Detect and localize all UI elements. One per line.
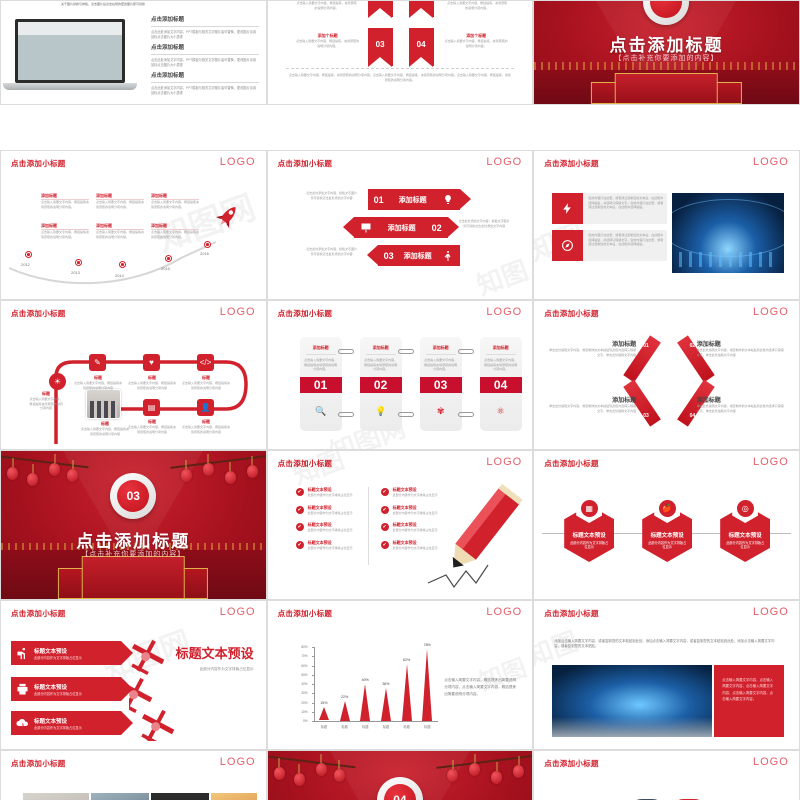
node-label: 标题 点击输入简要文字内容，概括提炼言简意赅的说明分项内容 — [73, 375, 123, 390]
row-title: 标题文本预设 — [34, 647, 82, 655]
slide-thumb-bar-chart[interactable]: 点击添加小标题 LOGO 知图 0%10%20%30%40%50%60%70%8… — [267, 600, 534, 750]
node-body: 点击输入简要文字内容，概括提炼言简意赅的说明分项内容 — [127, 425, 177, 434]
logo-text: LOGO — [486, 456, 522, 468]
slide-header: 点击添加小标题 — [544, 308, 599, 319]
card-title: 添加标题 — [480, 345, 522, 351]
document-icon: ▤ — [143, 399, 160, 416]
y-axis-tick: 50% — [294, 673, 308, 677]
laptop-mockup-image — [15, 19, 125, 90]
item-body: 此部分内容作为文字排版占位显示 — [308, 493, 368, 498]
arrow-row-03: 03 添加标题 — [378, 245, 460, 266]
big-title-block: 标题文本预设 此部分内容作为文字排版占位显示 — [158, 643, 254, 672]
y-axis-tick: 10% — [294, 710, 308, 714]
quadrant-text: 添加标题 单击此处编辑文字内容，或复制你的文本粘贴到此框内选择只保留文字，单击此… — [548, 339, 636, 357]
note-title: 添加标题 — [96, 193, 144, 200]
timeline-year: 2013 — [71, 270, 80, 275]
info-card[interactable]: 添加标题 点击输入简要文字内容，概括提炼言简意赅的说明分项内容。 03 ✾ — [420, 337, 462, 431]
note-body: 点击输入简要文字内容，概括提炼言简意赅的说明分项内容。 — [41, 200, 89, 209]
flag-side-item: 添加个标题 点击输入简要文字内容，概括提炼，言简意赅的说明分项内容。 — [296, 33, 360, 48]
timeline-note: 添加标题 点击输入简要文字内容，概括提炼言简意赅的说明分项内容。 — [151, 193, 199, 209]
y-axis — [314, 647, 315, 721]
info-card[interactable]: 添加标题 点击输入简要文字内容，概括提炼言简意赅的说明分项内容。 02 💡 — [360, 337, 402, 431]
logo-text: LOGO — [753, 456, 789, 468]
timeline-year: 2014 — [115, 273, 124, 278]
quadrant-number: 04 — [690, 413, 696, 419]
slide-header: 点击添加小标题 — [278, 458, 333, 469]
check-item: ✔ 标题文本预设 此部分内容作为文字排版占位显示 — [296, 487, 368, 498]
pencil-illustration — [422, 479, 532, 594]
presenter-icon — [15, 646, 30, 661]
bulb-icon: 💡 — [360, 406, 402, 417]
hex-title: 标题文本预设 — [642, 531, 692, 539]
quadrant-body: 单击此处编辑文字内容，或复制你的文本粘贴到此框内选择只保留文字，单击此处编辑文字… — [548, 404, 636, 413]
card-title: 添加标题 — [360, 345, 402, 351]
x-axis-tick: 标题 — [313, 724, 335, 729]
info-card[interactable]: 添加标题 点击输入简要文字内容，概括提炼言简意赅的说明分项内容。 01 🔍 — [300, 337, 342, 431]
arrow-note: 点击此处添加文字内容，模板文字图片皆可替换点击此处添加文字内容 — [458, 219, 510, 228]
flag-note: 点击输入简要文字内容，概括提炼，言简意赅的说明分项内容。 — [446, 1, 508, 10]
chart-bar — [402, 664, 412, 721]
timeline-dot — [119, 261, 126, 268]
quadrant-body: 单击此处编辑文字内容，或复制你的文本粘贴到此框内选择只保留文字，单击此处编辑文字… — [697, 348, 785, 357]
info-card[interactable]: 添加标题 点击输入简要文字内容，概括提炼言简意赅的说明分项内容。 04 ⚛ — [480, 337, 522, 431]
arrow-note: 点击此处添加文字内容，模板文字图片皆可替换点击此处添加文字内容 — [306, 247, 358, 256]
quadrant-text: 添加标题 单击此处编辑文字内容，或复制你的文本粘贴到此框内选择只保留文字，单击此… — [548, 395, 636, 413]
slide-header: 点击添加小标题 — [11, 158, 66, 169]
hex-title: 标题文本预设 — [720, 531, 770, 539]
arrow-label: 添加标题 — [388, 223, 416, 233]
slide-thumb-section-03[interactable]: 03 点击添加标题 【点击补充你要添加的内容】 — [0, 450, 267, 600]
person-flag-icon — [442, 250, 454, 262]
block-title: 点击添加标题 — [151, 15, 259, 23]
item-body: 此部分内容作为文字排版占位显示 — [308, 511, 368, 516]
check-item: ✔ 标题文本预设 此部分内容作为文字排版占位显示 — [296, 505, 368, 516]
bar-value-label: 22% — [334, 695, 356, 699]
chart-bar — [360, 684, 370, 721]
search-icon: 🔍 — [300, 406, 342, 417]
arrow-row-01: 01 添加标题 — [368, 189, 460, 210]
card-title: 添加标题 — [300, 345, 342, 351]
item-body: 此部分内容作为文字排版占位显示 — [308, 528, 368, 533]
slide-header: 点击添加小标题 — [11, 608, 66, 619]
timeline-note: 添加标题 点击输入简要文字内容，概括提炼言简意赅的说明分项内容。 — [96, 193, 144, 209]
y-axis-tick: 40% — [294, 682, 308, 686]
x-axis-tick: 标题 — [416, 724, 438, 729]
slide-thumb-rocket-timeline[interactable]: 点击添加小标题 LOGO 知图网 添加标题 点击输入简要文字内容，概括提炼言简意… — [0, 150, 267, 300]
lantern-decor-right — [422, 751, 532, 785]
compass-icon — [552, 230, 583, 261]
node-label: 标题 点击输入简要文字内容，概括提炼言简意赅的说明分项内容 — [181, 375, 231, 390]
team-icon: 👤 — [197, 399, 214, 416]
lantern-decor-right — [156, 451, 266, 485]
cloud-download-icon — [15, 716, 30, 731]
timeline-dot — [25, 251, 32, 258]
node-label: 标题 点击输入简要文字内容，概括提炼言简意赅的说明分项内容 — [81, 421, 129, 436]
logo-text: LOGO — [486, 606, 522, 618]
slide-thumb-hexagons[interactable]: 点击添加小标题 LOGO 标题文本预设 此部分内容作为文字排版占位显示 ▦ 标题… — [533, 450, 800, 600]
presentation-icon — [360, 222, 372, 234]
chart-bar — [340, 701, 350, 721]
panel-text: 点击输入简要文字内容，点击输入简要文字内容，点击输入简要文字内容，点击输入简要文… — [722, 677, 776, 703]
y-axis-tick: 20% — [294, 701, 308, 705]
bar-value-label: 36% — [375, 682, 397, 686]
lightning-icon — [552, 193, 583, 224]
note-body: 点击输入简要文字内容，概括提炼言简意赅的说明分项内容。 — [151, 200, 199, 209]
x-shape: 01 02 03 04 — [639, 339, 699, 423]
logo-text: LOGO — [753, 756, 789, 768]
note-title: 添加标题 — [151, 193, 199, 200]
card-body: 点击输入简要文字内容，概括提炼言简意赅的说明分项内容。 — [300, 358, 342, 372]
node-label: 标题 点击输入简要文字内容，概括提炼言简意赅的说明分项内容 — [29, 391, 63, 411]
card-number: 04 — [480, 377, 522, 393]
chart-bar — [319, 707, 329, 720]
plane-row-3: 标题文本预设 此部分内容作为文字排版占位显示 — [11, 711, 121, 735]
slide-thumb-x-diagram[interactable]: 点击添加小标题 LOGO 01 02 03 04 添加标题 单击此处编辑文字内容… — [533, 300, 800, 450]
bar-value-label: 15% — [313, 701, 335, 705]
node-body: 点击输入简要文字内容，概括提炼言简意赅的说明分项内容 — [73, 381, 123, 390]
arrow-row-02: 添加标题 02 — [354, 217, 448, 238]
row-title: 标题文本预设 — [34, 683, 82, 691]
card-number: 02 — [360, 377, 402, 393]
timeline-note: 添加标题 点击输入简要文字内容，概括提炼言简意赅的说明分项内容。 — [41, 193, 89, 209]
card-body: 点击输入简要文字内容，概括提炼言简意赅的说明分项内容。 — [480, 358, 522, 372]
x-axis-tick: 标题 — [354, 724, 376, 729]
code-icon: </> — [197, 354, 214, 371]
y-axis-tick: 0% — [294, 719, 308, 723]
node-label: 标题 点击输入简要文字内容，概括提炼言简意赅的说明分项内容 — [127, 375, 177, 390]
note-title: 添加标题 — [41, 193, 89, 200]
check-item: ✔ 标题文本预设 此部分内容作为文字排版占位显示 — [296, 522, 368, 533]
lantern-decor-left — [268, 751, 368, 785]
note-title: 添加标题 — [96, 223, 144, 230]
logo-text: LOGO — [753, 306, 789, 318]
slide-thumb-photo-mosaic[interactable]: 点击添加小标题 LOGO 添加点击输入标题 此部分内容作为文字排版占位 点击此处… — [0, 750, 267, 800]
row-body: 此部分内容作为文字排版占位显示 — [34, 691, 82, 696]
card-title: 添加标题 — [420, 345, 462, 351]
block-body: 点击此处添加文字内容，PPT模板与相关文字图片皆可替换，更改图片请用鼠标点击图片… — [151, 86, 259, 96]
connector — [398, 412, 414, 417]
timeline-year: 2015 — [161, 266, 170, 271]
connector — [338, 349, 354, 354]
arrow-note: 点击此处添加文字内容，模板文字图片皆可替换点击此处添加文字内容 — [306, 191, 358, 200]
slide-thumb-banner-flags[interactable]: 点击输入简要文字内容，概括提炼，言简意赅的说明分项内容。 点击输入简要文字内容，… — [267, 0, 534, 105]
footer-note: 点击输入简要文字内容，概括提炼，言简意赅的说明分项内容。点击输入简要文字内容，概… — [288, 73, 513, 82]
slide-header: 点击添加小标题 — [544, 158, 599, 169]
check-item: ✔ 标题文本预设 此部分内容作为文字排版占位显示 — [296, 540, 368, 551]
slide-thumb-hero-photo[interactable]: 点击添加小标题 LOGO 知图 添加点击输入简要文字内容，或者复制您的文本粘贴到… — [533, 600, 800, 750]
card-number: 01 — [300, 377, 342, 393]
meeting-photo — [91, 793, 149, 800]
quadrant-title: 添加标题 — [548, 395, 636, 404]
flag-badge-03: 03 — [368, 28, 393, 66]
slide-top-note: 关于图片替换与排版，点击图片后点击右侧的更改图片即可替换 — [61, 2, 145, 7]
logo-text: LOGO — [220, 156, 256, 168]
plane-row-2: 标题文本预设 此部分内容作为文字排版占位显示 — [11, 677, 121, 701]
big-title: 标题文本预设 — [158, 643, 254, 662]
note-body: 点击输入简要文字内容，概括提炼言简意赅的说明分项内容。 — [96, 200, 144, 209]
text-block: 点击添加标题 点击此处添加文字内容，PPT模板与相关文字图片皆可替换，更改图片请… — [151, 71, 259, 96]
arrow-number: 03 — [384, 251, 394, 261]
item-body: 您的内容打在这里，或者通过复制您的文本后，在此框中选择粘贴，并选择只保留文字。您… — [588, 233, 664, 247]
hex-title: 标题文本预设 — [564, 531, 614, 539]
timeline-year: 2016 — [200, 251, 209, 256]
sunrise-photo — [211, 793, 257, 800]
dark-caption-tile: 添加点击输入标题 此部分内容作为文字排版占位 — [151, 793, 209, 800]
hex-body: 此部分内容作为文字排版占位显示 — [720, 539, 770, 552]
hex-body: 此部分内容作为文字排版占位显示 — [642, 539, 692, 552]
y-axis-tick: 60% — [294, 664, 308, 668]
slide-header: 点击添加小标题 — [278, 608, 333, 619]
connector — [458, 412, 474, 417]
logo-text: LOGO — [220, 606, 256, 618]
lead-text: 添加点击输入简要文字内容，或者复制您的文本粘贴到此处。添加点击输入简要文字内容，… — [554, 639, 781, 649]
y-axis-tick: 70% — [294, 654, 308, 658]
slide-thumb-section-cover[interactable]: 点击添加标题 【点击补充你要添加的内容】 — [533, 0, 800, 105]
red-text-panel: 点击输入简要文字内容，点击输入简要文字内容，点击输入简要文字内容，点击输入简要文… — [714, 665, 784, 737]
timeline-dot — [204, 241, 211, 248]
quadrant-title: 添加标题 — [697, 339, 785, 348]
x-axis — [314, 721, 438, 722]
x-axis-tick: 标题 — [334, 724, 356, 729]
team-photo — [86, 389, 121, 419]
quadrant-number: 01 — [643, 343, 649, 349]
logo-text: LOGO — [486, 156, 522, 168]
x-axis-tick: 标题 — [396, 724, 418, 729]
item-body: 点击输入简要文字内容，概括提炼，言简意赅的说明分项内容。 — [444, 39, 508, 48]
item-body: 此部分内容作为文字排版占位显示 — [308, 546, 368, 551]
node-label: 标题 点击输入简要文字内容，概括提炼言简意赅的说明分项内容 — [127, 419, 177, 434]
slide-header: 点击添加小标题 — [11, 758, 66, 769]
y-axis-tick: 80% — [294, 645, 308, 649]
row-body: 此部分内容作为文字排版占位显示 — [34, 655, 82, 660]
chart-side-text: 点击输入简要文字内容，概括提炼出简要说明分项内容，点击输入简要文字内容，概括提炼… — [444, 677, 518, 697]
bar-chart: 0%10%20%30%40%50%60%70%80%15%标题22%标题40%标… — [294, 637, 442, 733]
node-body: 点击输入简要文字内容，概括提炼言简意赅的说明分项内容 — [29, 397, 63, 411]
row-body: 此部分内容作为文字排版占位显示 — [34, 725, 82, 730]
slide-header: 点击添加小标题 — [544, 758, 599, 769]
heart-hand-icon: ♥ — [143, 354, 160, 371]
slide-header: 点击添加小标题 — [11, 308, 66, 319]
flag-badge-02: 02 — [409, 0, 434, 17]
y-axis-tick: 30% — [294, 691, 308, 695]
item-body: 您的内容打在这里，或者通过复制您的文本后，在此框中选择粘贴，并选择只保留文字。您… — [588, 196, 664, 210]
big-sub: 此部分内容作为文字排版占位显示 — [158, 667, 254, 672]
text-block: 点击添加标题 点击此处添加文字内容，PPT模板与相关文字图片皆可替换，更改图片请… — [151, 15, 259, 40]
quadrant-text: 添加标题 单击此处编辑文字内容，或复制你的文本粘贴到此框内选择只保留文字，单击此… — [697, 339, 785, 357]
hand-idea-icon — [442, 194, 454, 206]
connector — [398, 349, 414, 354]
slide-thumb-snake-path[interactable]: 点击添加小标题 LOGO ☀ ✎ ♥ </> ▤ 👤 标题 点击输入简要文字内容… — [0, 300, 267, 450]
quadrant-number: 03 — [643, 413, 649, 419]
note-title: 添加标题 — [41, 223, 89, 230]
logo-text: LOGO — [753, 606, 789, 618]
divider — [368, 487, 369, 565]
arrow-number: 02 — [432, 223, 442, 233]
slide-header: 点击添加小标题 — [544, 458, 599, 469]
quadrant-body: 单击此处编辑文字内容，或复制你的文本粘贴到此框内选择只保留文字，单击此处编辑文字… — [697, 404, 785, 413]
connector — [458, 349, 474, 354]
quadrant-title: 添加标题 — [697, 395, 785, 404]
flag-badge-01: 01 — [368, 0, 393, 17]
slide-thumbnail-grid: 关于图片替换与排版，点击图片后点击右侧的更改图片即可替换 点击添加标题 点击此处… — [0, 0, 800, 800]
logo-text: LOGO — [753, 156, 789, 168]
hex-body: 此部分内容作为文字排版占位显示 — [564, 539, 614, 552]
global-network-photo — [672, 193, 784, 273]
leaf-icon: ✾ — [420, 406, 462, 417]
arrow-label: 添加标题 — [399, 195, 427, 205]
flag-number: 03 — [368, 40, 393, 49]
quadrant-text: 添加标题 单击此处编辑文字内容，或复制你的文本粘贴到此框内选择只保留文字，单击此… — [697, 395, 785, 413]
flag-number: 04 — [409, 40, 434, 49]
slide-thumb-section-04[interactable]: 04 点击添加标题 — [267, 750, 534, 800]
quadrant-title: 添加标题 — [548, 339, 636, 348]
block-title: 点击添加标题 — [151, 71, 259, 79]
slide-header: 点击添加小标题 — [544, 608, 599, 619]
arrow-label: 添加标题 — [404, 251, 432, 261]
node-label: 标题 点击输入简要文字内容，概括提炼言简意赅的说明分项内容 — [181, 419, 231, 434]
divider — [286, 68, 515, 69]
slide-thumb-arrows[interactable]: 点击添加小标题 LOGO 知图 点击此处添加文字内容，模板文字图片皆可替换点击此… — [267, 150, 534, 300]
item-body: 点击输入简要文字内容，概括提炼，言简意赅的说明分项内容。 — [296, 39, 360, 48]
card-number: 03 — [420, 377, 462, 393]
slide-thumb-icons-photo[interactable]: 点击添加小标题 LOGO 知图 您的内容打在这里，或者通过复制您的文本后，在此框… — [533, 150, 800, 300]
office-photo — [23, 793, 89, 800]
connector — [338, 412, 354, 417]
arrow-number: 01 — [374, 195, 384, 205]
atom-icon: ⚛ — [480, 406, 522, 417]
quadrant-number: 02 — [690, 343, 696, 349]
business-data-photo — [552, 665, 712, 737]
plane-row-1: 标题文本预设 此部分内容作为文字排版占位显示 — [11, 641, 121, 665]
card-body: 点击输入简要文字内容，概括提炼言简意赅的说明分项内容。 — [420, 358, 462, 372]
slide-header: 点击添加小标题 — [278, 158, 333, 169]
block-title: 点击添加标题 — [151, 43, 259, 51]
bar-value-label: 78% — [416, 643, 438, 647]
bar-value-label: 62% — [396, 658, 418, 662]
node-body: 点击输入简要文字内容，概括提炼言简意赅的说明分项内容 — [181, 381, 231, 390]
bar-value-label: 40% — [354, 678, 376, 682]
x-axis-tick: 标题 — [375, 724, 397, 729]
logo-text: LOGO — [220, 756, 256, 768]
block-body: 点击此处添加文字内容，PPT模板与相关文字图片皆可替换，更改图片请用鼠标点击图片… — [151, 58, 259, 68]
note-title: 添加标题 — [151, 223, 199, 230]
flag-note: 点击输入简要文字内容，概括提炼，言简意赅的说明分项内容。 — [296, 1, 358, 10]
lantern-decor-left — [1, 451, 101, 485]
flag-side-item: 添加个标题 点击输入简要文字内容，概括提炼，言简意赅的说明分项内容。 — [444, 33, 508, 48]
node-body: 点击输入简要文字内容，概括提炼言简意赅的说明分项内容 — [81, 427, 129, 436]
chart-bar — [422, 649, 432, 721]
timeline-dot — [165, 255, 172, 262]
timeline-year: 2012 — [21, 262, 30, 267]
section-number: 04 — [384, 784, 416, 800]
text-block: 点击添加标题 点击此处添加文字内容，PPT模板与相关文字图片皆可替换，更改图片请… — [151, 43, 259, 68]
rocket-icon — [215, 203, 241, 229]
node-body: 点击输入简要文字内容，概括提炼言简意赅的说明分项内容 — [127, 381, 177, 390]
pen-icon: ✎ — [89, 354, 106, 371]
node-body: 点击输入简要文字内容，概括提炼言简意赅的说明分项内容 — [181, 425, 231, 434]
section-subtitle: 【点击补充你要添加的内容】 — [1, 549, 266, 559]
logo-text: LOGO — [486, 306, 522, 318]
printer-icon — [15, 682, 30, 697]
checklist-column-left: ✔ 标题文本预设 此部分内容作为文字排版占位显示 ✔ 标题文本预设 此部分内容作… — [296, 487, 368, 551]
logo-text: LOGO — [220, 306, 256, 318]
slide-thumb-flower-gears[interactable]: 点击添加小标题 LOGO 01 02 ☞ 🗂 💬 点击输入简要文字内容，概括提炼… — [533, 750, 800, 800]
slide-thumb-laptop[interactable]: 关于图片替换与排版，点击图片后点击右侧的更改图片即可替换 点击添加标题 点击此处… — [0, 0, 267, 105]
slide-header: 点击添加小标题 — [278, 308, 333, 319]
block-body: 点击此处添加文字内容，PPT模板与相关文字图片皆可替换，更改图片请用鼠标点击图片… — [151, 30, 259, 40]
row-title: 标题文本预设 — [34, 717, 82, 725]
chart-bar — [381, 688, 391, 721]
sun-icon: ☀ — [49, 373, 66, 390]
section-subtitle: 【点击补充你要添加的内容】 — [534, 53, 799, 63]
slide-thumb-four-cards[interactable]: 点击添加小标题 LOGO 知图网 添加标题 点击输入简要文字内容，概括提炼言简意… — [267, 300, 534, 450]
slide-thumb-planes[interactable]: 点击添加小标题 LOGO 知图网 标题文本预设 此部分内容作为文字排版占位显示 … — [0, 600, 267, 750]
timeline-dot — [75, 259, 82, 266]
slide-thumb-pencil-checklist[interactable]: 点击添加小标题 LOGO 知图 ✔ 标题文本预设 此部分内容作为文字排版占位显示… — [267, 450, 534, 600]
section-number: 03 — [117, 480, 149, 512]
card-body: 点击输入简要文字内容，概括提炼言简意赅的说明分项内容。 — [360, 358, 402, 372]
flag-badge-04: 04 — [409, 28, 434, 66]
quadrant-body: 单击此处编辑文字内容，或复制你的文本粘贴到此框内选择只保留文字，单击此处编辑文字… — [548, 348, 636, 357]
